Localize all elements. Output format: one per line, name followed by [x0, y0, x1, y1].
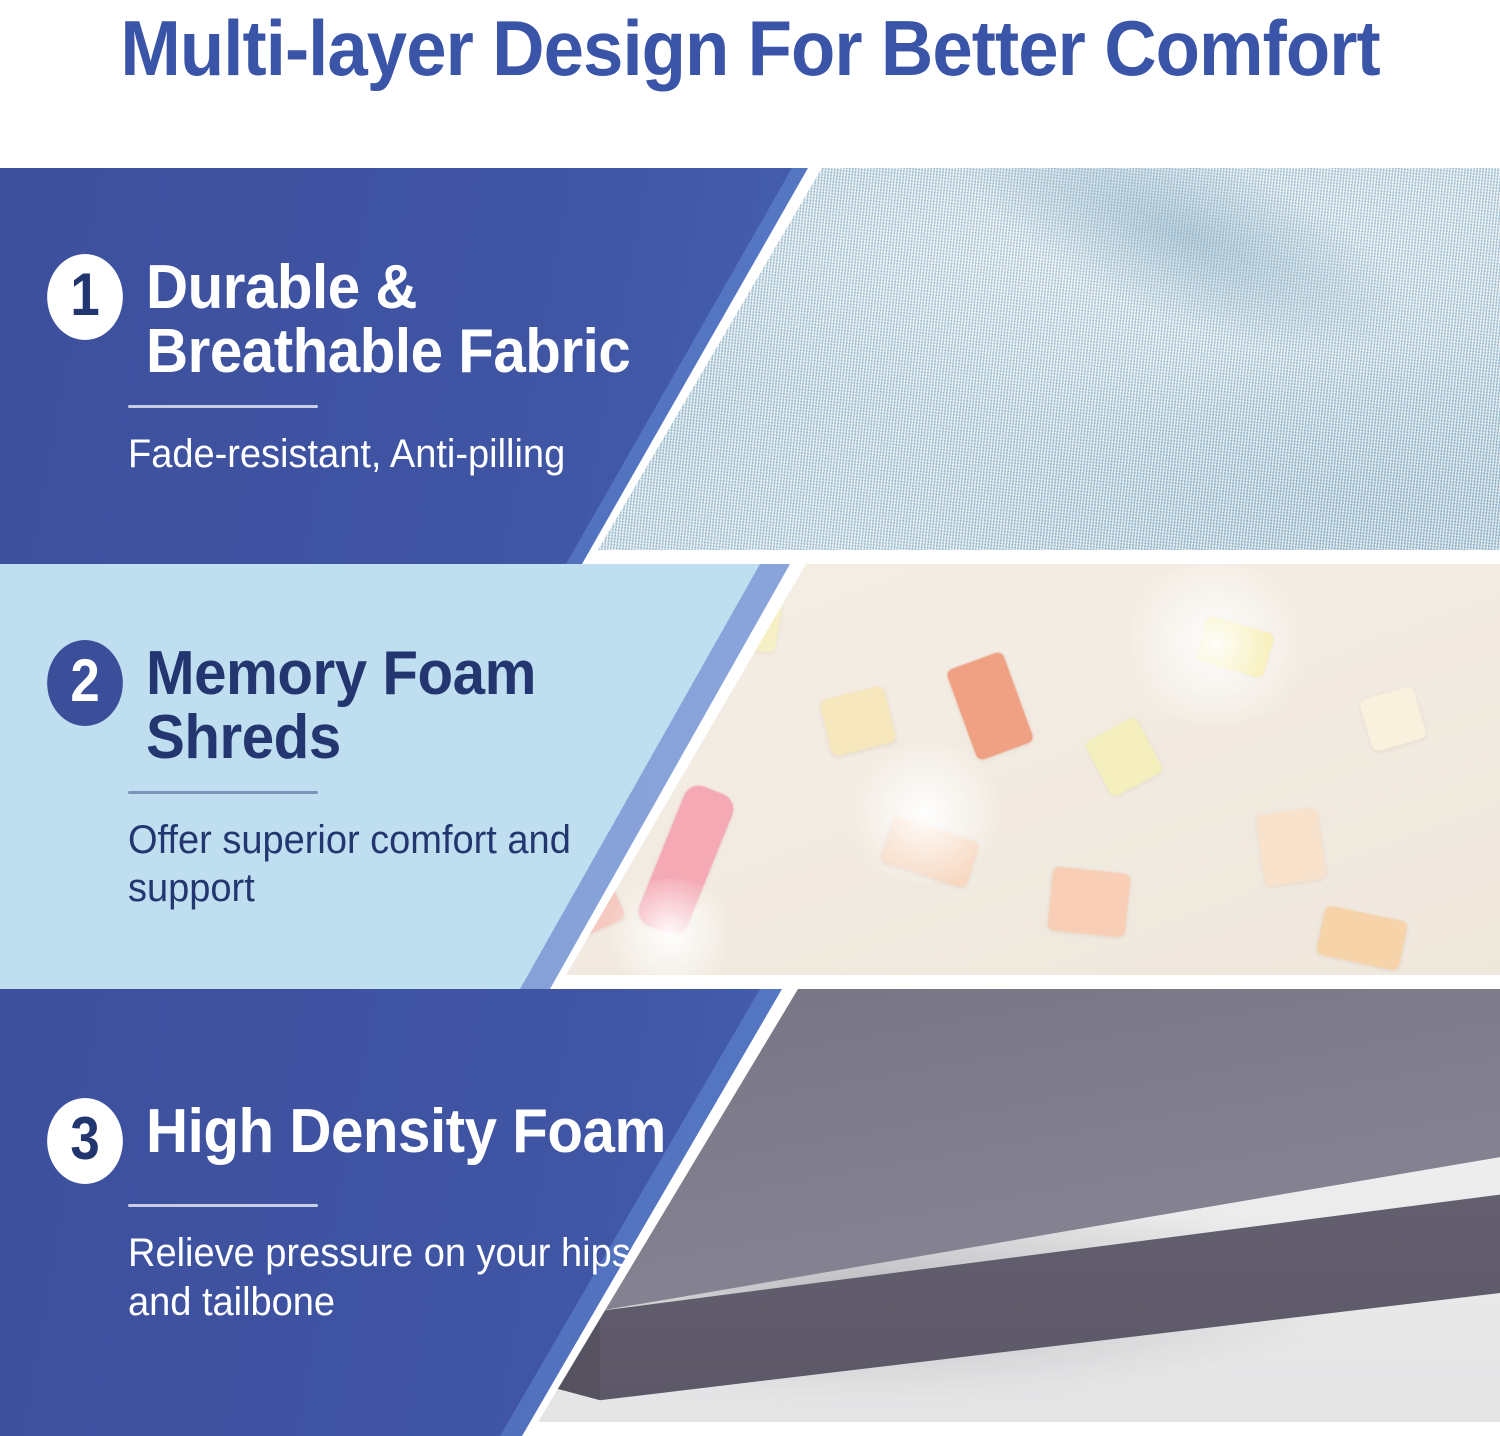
panel-2-heading: Memory Foam Shreds	[146, 642, 667, 771]
panel-1-content: 1 Durable & Breathable Fabric Fade-resis…	[0, 168, 700, 564]
panel-3-heading-row: 3 High Density Foam	[42, 1098, 700, 1184]
fiber-fill-cluster	[1110, 564, 1320, 724]
panel-2-step-badge: 2	[47, 640, 123, 726]
fabric-fold-shadow	[914, 168, 1455, 415]
foam-shred	[1047, 866, 1131, 938]
feature-panel-3: 3 High Density Foam Relieve pressure on …	[0, 989, 1500, 1436]
panel-3-divider	[128, 1204, 318, 1207]
panel-1-divider	[128, 405, 318, 408]
foam-shred	[1255, 807, 1326, 887]
panel-1-heading-row: 1 Durable & Breathable Fabric	[42, 254, 700, 385]
foam-shred	[819, 684, 897, 756]
panel-3-step-badge: 3	[47, 1098, 123, 1184]
feature-panel-1: 1 Durable & Breathable Fabric Fade-resis…	[0, 168, 1500, 564]
foam-shred	[1316, 904, 1409, 970]
panel-1-step-badge: 1	[47, 254, 123, 340]
panel-2-content: 2 Memory Foam Shreds Offer superior comf…	[0, 564, 700, 989]
foam-shred	[1359, 685, 1428, 752]
foam-shred	[945, 650, 1034, 761]
panel-2-divider	[128, 791, 318, 794]
panel-2-heading-row: 2 Memory Foam Shreds	[42, 640, 700, 771]
panel-2-subtitle: Offer superior comfort and support	[128, 816, 671, 914]
panel-3-subtitle: Relieve pressure on your hips and tailbo…	[128, 1229, 671, 1327]
panel-1-subtitle: Fade-resistant, Anti-pilling	[128, 430, 671, 479]
feature-panel-2: 2 Memory Foam Shreds Offer superior comf…	[0, 564, 1500, 989]
page-title: Multi-layer Design For Better Comfort	[120, 9, 1379, 87]
foam-shred	[1084, 716, 1164, 798]
panel-3-heading: High Density Foam	[146, 1100, 666, 1164]
fiber-fill-cluster	[840, 743, 1010, 883]
panel-3-content: 3 High Density Foam Relieve pressure on …	[0, 989, 700, 1436]
panel-1-heading: Durable & Breathable Fabric	[146, 256, 667, 385]
page-header: Multi-layer Design For Better Comfort	[0, 0, 1500, 168]
